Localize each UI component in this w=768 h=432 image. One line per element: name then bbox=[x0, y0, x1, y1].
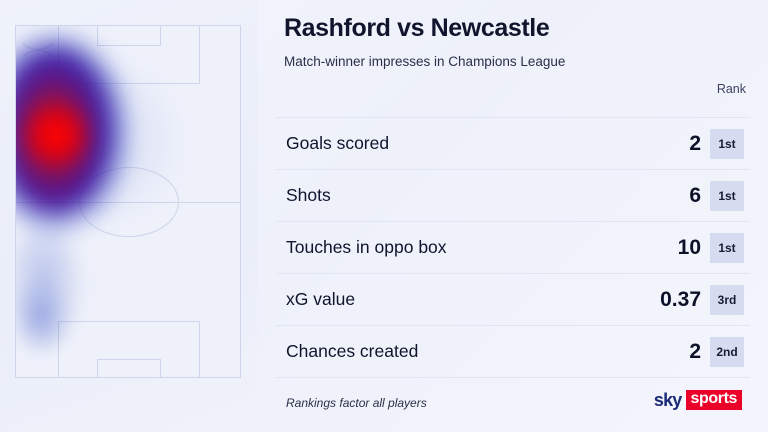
stat-label: Chances created bbox=[276, 341, 639, 362]
status-badge: 3rd bbox=[710, 285, 744, 315]
rank-column-header: Rank bbox=[717, 82, 746, 96]
penalty-arc-bottom bbox=[16, 50, 60, 74]
stat-label: Goals scored bbox=[276, 133, 639, 154]
sky-sports-logo: sky sports bbox=[654, 390, 742, 410]
status-badge: 1st bbox=[710, 129, 744, 159]
stat-value: 0.37 bbox=[639, 288, 710, 312]
table-row: xG value 0.37 3rd bbox=[276, 273, 750, 325]
penalty-arc-top bbox=[16, 26, 60, 50]
stats-table: Goals scored 2 1st Shots 6 1st Touches i… bbox=[276, 117, 750, 378]
table-row: Touches in oppo box 10 1st bbox=[276, 221, 750, 273]
status-badge: 1st bbox=[710, 233, 744, 263]
sky-wordmark: sky bbox=[654, 391, 686, 409]
heatmap-panel bbox=[0, 0, 258, 432]
stat-label: xG value bbox=[276, 289, 639, 310]
stat-value: 2 bbox=[639, 340, 710, 364]
goal-box-bottom bbox=[97, 359, 161, 378]
table-row: Shots 6 1st bbox=[276, 169, 750, 221]
football-pitch bbox=[15, 25, 241, 378]
footnote: Rankings factor all players bbox=[286, 396, 427, 410]
heat-blob-hotspot bbox=[25, 104, 87, 166]
stats-panel: Rashford vs Newcastle Match-winner impre… bbox=[258, 0, 768, 432]
stat-value: 10 bbox=[639, 236, 710, 260]
centre-circle bbox=[79, 167, 179, 237]
stat-value: 6 bbox=[639, 184, 710, 208]
stat-label: Touches in oppo box bbox=[276, 237, 639, 258]
table-row: Chances created 2 2nd bbox=[276, 325, 750, 378]
goal-box-top bbox=[97, 25, 161, 46]
table-row: Goals scored 2 1st bbox=[276, 117, 750, 169]
page-subtitle: Match-winner impresses in Champions Leag… bbox=[284, 54, 565, 69]
status-badge: 2nd bbox=[710, 337, 744, 367]
graphic-root: Rashford vs Newcastle Match-winner impre… bbox=[0, 0, 768, 432]
stat-value: 2 bbox=[639, 132, 710, 156]
sports-wordmark: sports bbox=[686, 390, 743, 410]
page-title: Rashford vs Newcastle bbox=[284, 14, 549, 43]
status-badge: 1st bbox=[710, 181, 744, 211]
stat-label: Shots bbox=[276, 185, 639, 206]
